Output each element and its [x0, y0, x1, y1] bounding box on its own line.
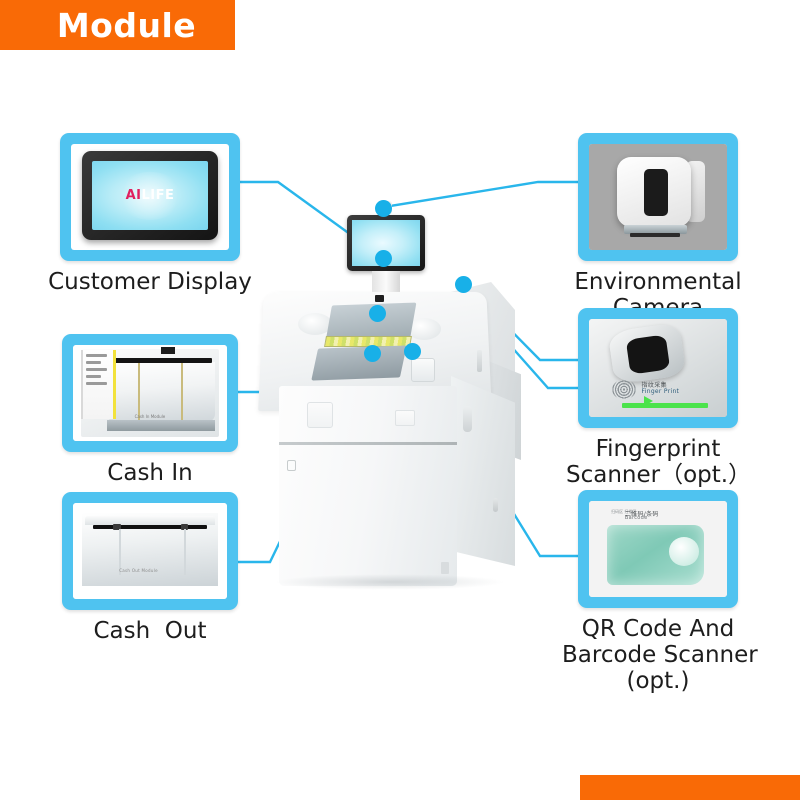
callout-frame: [578, 133, 738, 261]
callout-environmental-camera[interactable]: [578, 133, 738, 261]
cash-in-instruction-label: [81, 350, 117, 419]
fingerprint-sensor: [625, 334, 670, 374]
caption-qr-barcode-scanner: QR Code And Barcode Scanner (opt.): [562, 617, 754, 694]
cash-in-image: Cash In Module: [73, 345, 227, 441]
callout-frame: 扫码区 扫描区 二维码/条码 Barcode: [578, 490, 738, 608]
diagram-stage: Module: [0, 0, 800, 800]
caption-cash-in: Cash In: [60, 461, 240, 487]
footer-accent-bar: [580, 775, 800, 800]
callout-cash-in[interactable]: Cash In Module: [62, 334, 238, 452]
ailife-logo: AILIFE: [126, 188, 175, 203]
callout-cash-out[interactable]: Cash Out Module: [62, 492, 238, 610]
logo-life-text: LIFE: [141, 188, 174, 203]
callout-frame: Cash In Module: [62, 334, 238, 452]
environmental-camera-image: [589, 144, 727, 250]
caption-fingerprint-scanner: Fingerprint Scanner（opt.）: [566, 437, 750, 489]
callout-frame: 指纹采集 Finger Print: [578, 308, 738, 428]
cash-in-lower-shade: [107, 420, 215, 432]
kiosk-door-seam: [279, 442, 457, 445]
cash-in-divider-2: [181, 362, 183, 422]
fingerprint-icon: [612, 380, 635, 400]
fingerprint-image: 指纹采集 Finger Print: [589, 319, 727, 417]
cash-out-lip: [85, 516, 214, 525]
kiosk-panel-square-left: [307, 402, 333, 428]
fingerprint-label-en: Finger Print: [641, 388, 679, 395]
cash-in-device-text: Cash In Module: [135, 414, 166, 419]
camera-base-shadow: [630, 233, 680, 237]
logo-ai-text: AI: [126, 188, 142, 203]
qr-scanner-image: 扫码区 扫描区 二维码/条码 Barcode: [589, 501, 727, 597]
kiosk-door-handle: [463, 406, 472, 432]
marker-dot-fingerprint[interactable]: [455, 276, 472, 293]
kiosk-lock-icon: [287, 460, 296, 471]
cash-in-divider-1: [138, 362, 140, 422]
kiosk-scanner-button: [411, 358, 435, 382]
marker-dot-display[interactable]: [375, 250, 392, 267]
cash-in-tray: [107, 362, 215, 422]
marker-dot-cash-out[interactable]: [364, 345, 381, 362]
kiosk-monitor-stand: [372, 271, 400, 293]
cash-in-indicator: [161, 347, 175, 354]
kiosk-body-front: [279, 386, 457, 586]
marker-dot-qr[interactable]: [404, 343, 421, 360]
cash-out-device-text: Cash Out Module: [119, 568, 158, 573]
caption-cash-out: Cash Out: [60, 619, 240, 645]
kiosk-panel-square-right: [395, 410, 415, 426]
kiosk-shadow: [275, 574, 505, 590]
callout-customer-display[interactable]: AILIFE: [60, 133, 240, 261]
self-service-kiosk: [255, 190, 555, 620]
cash-out-seam-2: [184, 529, 186, 575]
callout-frame: AILIFE: [60, 133, 240, 261]
kiosk-vent-upper: [477, 350, 482, 372]
kiosk-body-side: [451, 376, 515, 566]
cash-in-slot: [110, 358, 212, 363]
camera-lens: [644, 169, 667, 216]
kiosk-foot: [441, 562, 449, 574]
kiosk-vent-lower: [493, 498, 498, 512]
callout-qr-barcode-scanner[interactable]: 扫码区 扫描区 二维码/条码 Barcode: [578, 490, 738, 608]
cash-out-slot: [93, 525, 207, 529]
qr-label-en: Barcode: [625, 515, 648, 521]
display-bezel: AILIFE: [82, 151, 218, 240]
marker-dot-cash-in[interactable]: [369, 305, 386, 322]
marker-dot-camera[interactable]: [375, 200, 392, 217]
kiosk-sensor-icon: [375, 295, 384, 302]
callout-fingerprint-scanner[interactable]: 指纹采集 Finger Print: [578, 308, 738, 428]
caption-customer-display: Customer Display: [40, 270, 260, 296]
cash-out-image: Cash Out Module: [73, 503, 227, 599]
callout-frame: Cash Out Module: [62, 492, 238, 610]
kiosk-cash-out-slot: [311, 345, 406, 380]
fingerprint-guide-line: [622, 403, 708, 408]
customer-display-image: AILIFE: [71, 144, 229, 250]
display-screen: AILIFE: [92, 161, 208, 230]
